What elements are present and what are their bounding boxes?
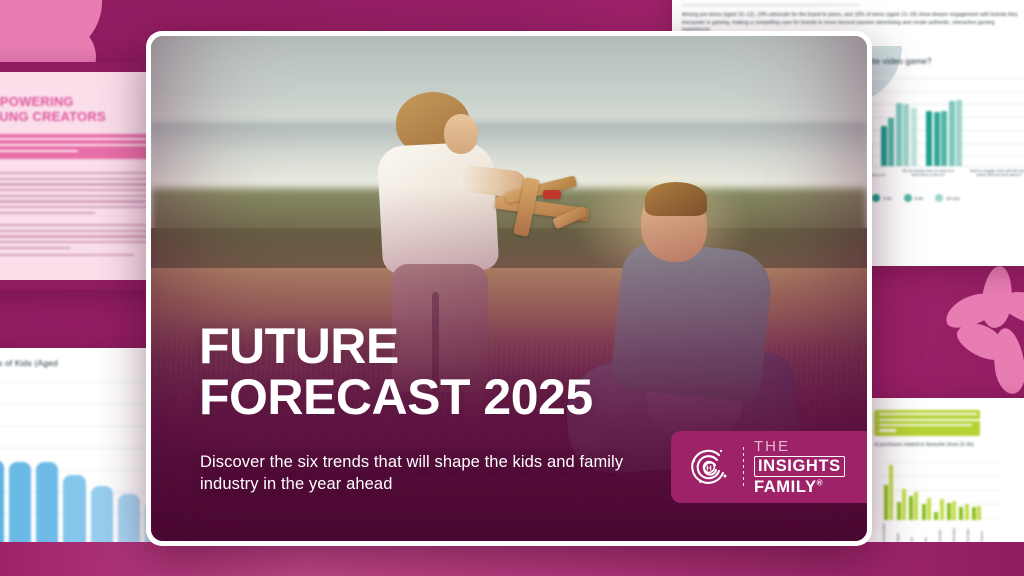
hero-title: FUTURE FORECAST 2025 <box>199 321 593 423</box>
bar-group-germany <box>947 460 956 520</box>
doc-bottomright-bar-chart: Great Britain Japan US UK Canada Germany… <box>876 458 1000 546</box>
svg-text:H: H <box>706 463 711 472</box>
chart-bars <box>858 78 1024 166</box>
doc-topleft-title-line2: YOUNG CREATORS <box>0 109 106 124</box>
bar-group-uk <box>922 460 931 520</box>
doc-topright-bar-chart: eate ing to nd Tell my friends that I've… <box>858 74 1024 192</box>
bar-label-germany: Germany <box>952 528 956 542</box>
chart-xlabel-3: Want to engage more with the brand and/o… <box>970 169 1024 178</box>
chart-xlabel-2: Tell my friends that I've seen it or sen… <box>900 169 956 178</box>
legend-label-10-12s: 10-12s <box>946 196 959 201</box>
insights-family-swirl-icon: H <box>685 443 733 491</box>
insights-family-logo-badge[interactable]: H THE INSIGHTS FAMILY® <box>671 431 867 503</box>
bar-group-canada <box>934 460 943 520</box>
logo-wordmark: THE INSIGHTS FAMILY® <box>754 439 845 495</box>
logo-the: THE <box>754 439 845 454</box>
bar-group-2 <box>881 78 917 166</box>
doc-topright-paragraph-0 <box>682 4 1024 6</box>
screenshot-stage: EMPOWERING YOUNG CREATORS <box>0 0 1024 576</box>
doc-topleft-title-line1: EMPOWERING <box>0 94 74 109</box>
logo-insights: INSIGHTS <box>754 456 845 477</box>
bar-label-australia: Australia <box>966 529 970 542</box>
logo-registered-mark: ® <box>817 478 824 487</box>
chart-bars <box>884 460 998 520</box>
legend-item-10-12s: 10-12s <box>935 194 959 202</box>
doc-bottomright-banner <box>874 410 980 436</box>
bar-group-japan <box>897 460 906 520</box>
bar-group-australia <box>959 460 968 520</box>
legend-label-6-9s: 6-9s <box>915 196 924 201</box>
legend-item-3-5s: 3-5s <box>872 194 892 202</box>
logo-divider <box>743 447 744 487</box>
legend-label-3-5s: 3-5s <box>883 196 892 201</box>
bar-label-canada: Canada <box>938 530 942 542</box>
bar-label-great-britain: Great Britain <box>882 523 886 542</box>
bar-group-3 <box>926 78 962 166</box>
doc-bottomleft-title: Favourite Toy Types of Kids (Aged <box>0 358 58 368</box>
bar-group-france <box>972 460 981 520</box>
bar-group-great-britain <box>884 460 893 520</box>
bar-label-france: France <box>980 531 984 542</box>
petal-flower-right <box>952 268 1024 398</box>
doc-bottomright-subtitle: al purchases related to favourite show (… <box>874 442 994 449</box>
hero-title-line1: FUTURE <box>199 321 593 372</box>
chart-legend: 3-5s 6-9s 10-12s <box>872 194 960 202</box>
background-bottom-band <box>0 542 1024 576</box>
doc-topright-question: rite video game? <box>868 56 932 66</box>
legend-item-6-9s: 6-9s <box>904 194 924 202</box>
hero-title-line2: FORECAST 2025 <box>199 372 593 423</box>
hero-slide-card[interactable]: FUTURE FORECAST 2025 Discover the six tr… <box>146 31 872 546</box>
hero-photo: FUTURE FORECAST 2025 Discover the six tr… <box>151 36 867 541</box>
bar-label-japan: Japan <box>896 533 900 542</box>
bar-group-us <box>909 460 918 520</box>
doc-topleft-footer <box>0 254 134 256</box>
hero-subtitle: Discover the six trends that will shape … <box>200 451 630 495</box>
logo-family: FAMILY <box>754 478 817 496</box>
